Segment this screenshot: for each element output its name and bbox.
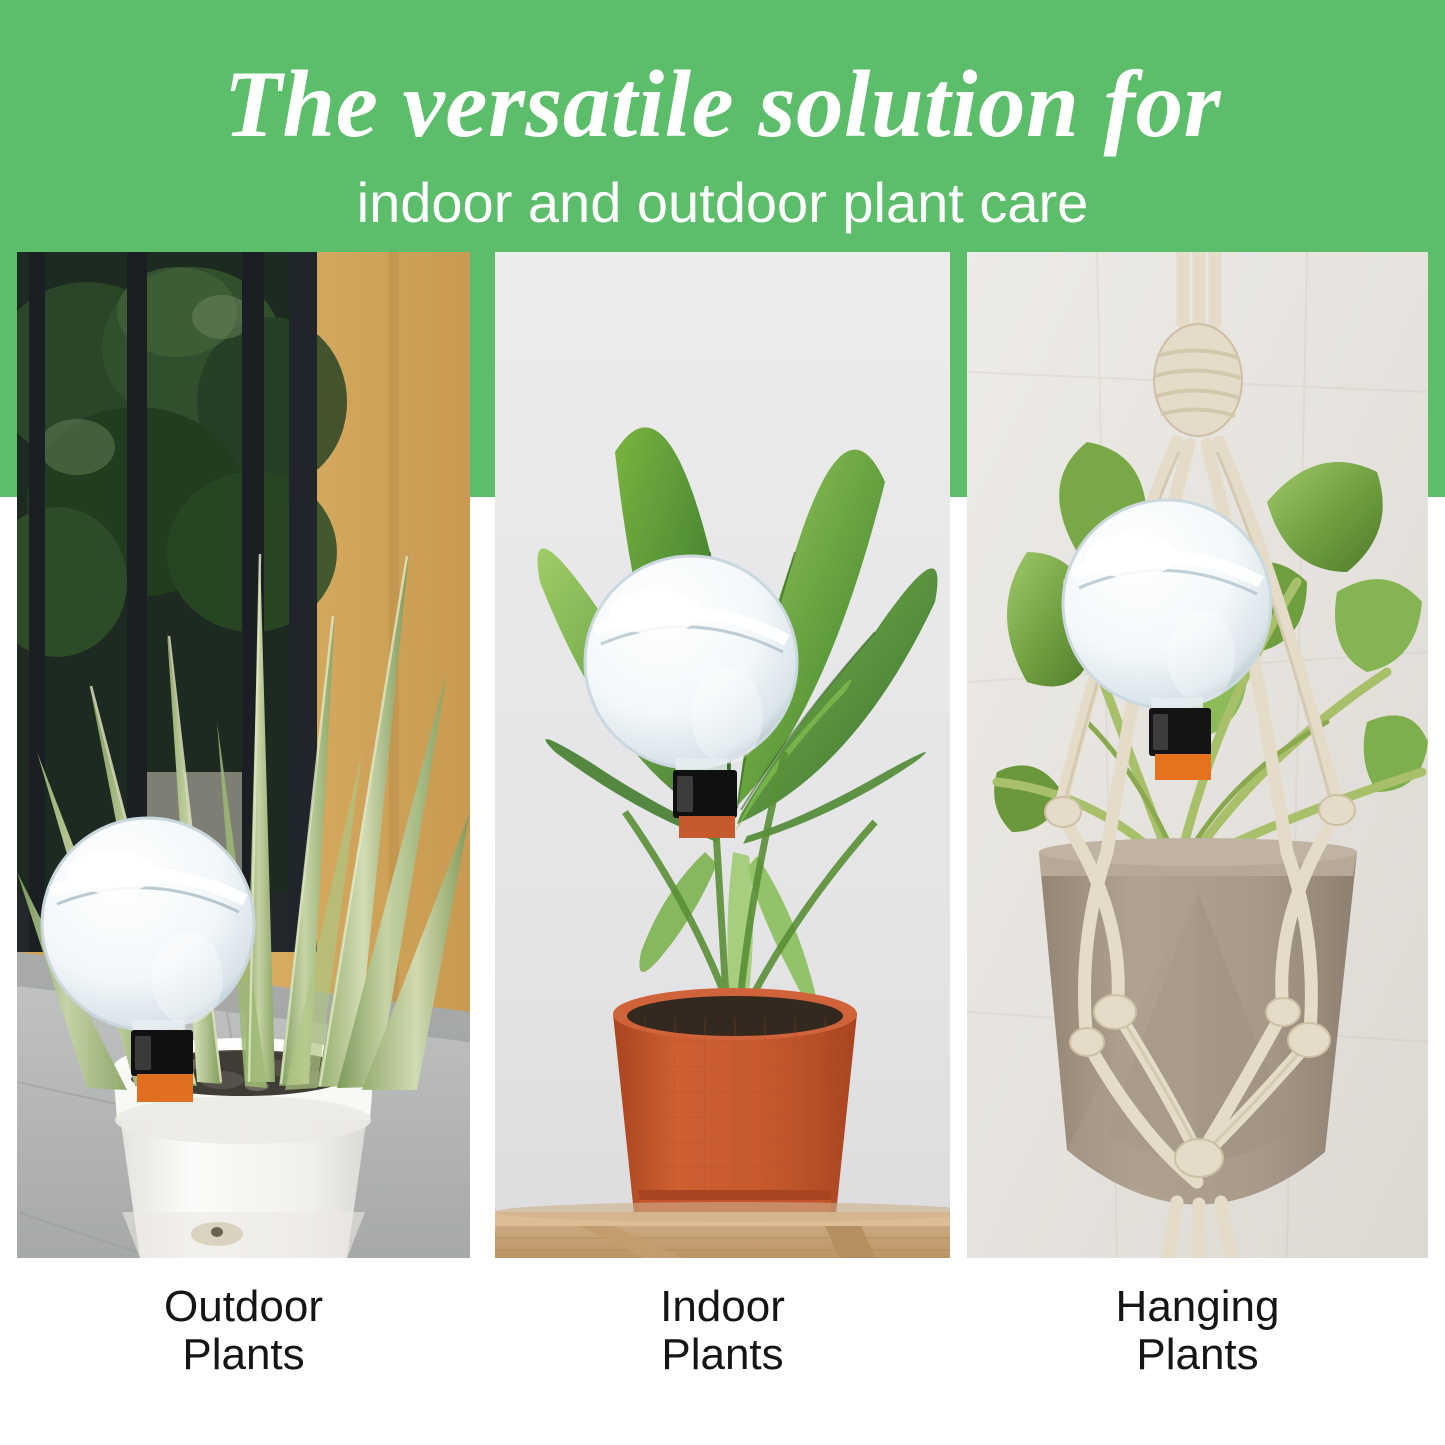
banner-gutter-middle-a xyxy=(470,252,495,497)
caption-line-1: Outdoor xyxy=(17,1283,470,1331)
caption-line-2: Plants xyxy=(17,1331,470,1379)
banner-gutter-left xyxy=(0,252,17,497)
photo-indoor-plants xyxy=(495,252,950,1258)
indoor-scene-art xyxy=(495,252,950,1258)
caption-line-1: Indoor xyxy=(495,1283,950,1331)
outdoor-scene-art xyxy=(17,252,470,1258)
caption-hanging-plants: Hanging Plants xyxy=(967,1283,1428,1379)
hanging-scene-art xyxy=(967,252,1428,1258)
subtitle: indoor and outdoor plant care xyxy=(0,172,1445,234)
headline: The versatile solution for xyxy=(0,52,1445,156)
caption-indoor-plants: Indoor Plants xyxy=(495,1283,950,1379)
caption-outdoor-plants: Outdoor Plants xyxy=(17,1283,470,1379)
photo-hanging-plants xyxy=(967,252,1428,1258)
photo-outdoor-plants xyxy=(17,252,470,1258)
caption-line-2: Plants xyxy=(967,1331,1428,1379)
caption-line-2: Plants xyxy=(495,1331,950,1379)
caption-line-1: Hanging xyxy=(967,1283,1428,1331)
banner-gutter-right xyxy=(1428,252,1445,497)
banner-gutter-middle-b xyxy=(950,252,967,497)
